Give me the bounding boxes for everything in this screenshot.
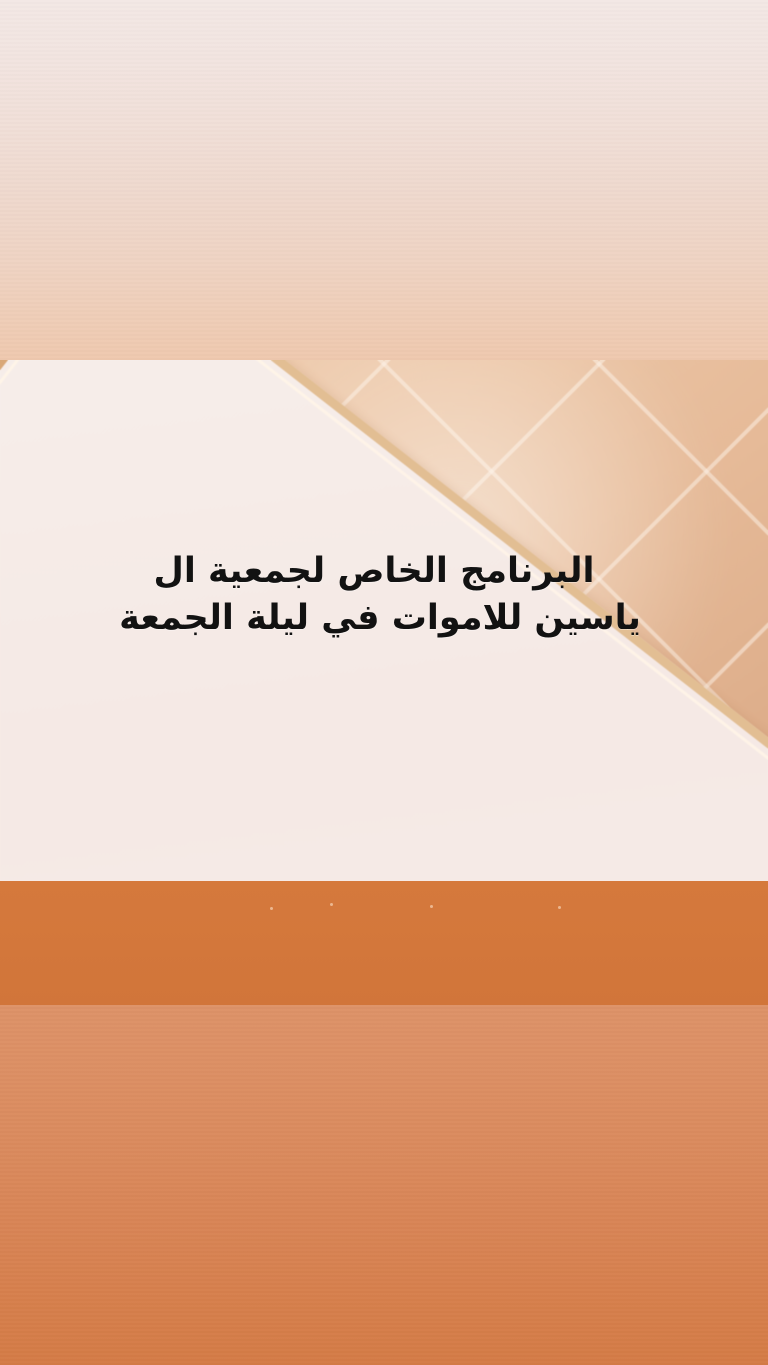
caption-line-1: البرنامج الخاص لجمعية ال [0, 548, 760, 595]
caption-line-2: ياسين للاموات في ليلة الجمعة [0, 595, 760, 642]
solid-orange-divider-band [0, 881, 768, 1005]
story-frame: البرنامج الخاص لجمعية ال ياسين للاموات ف… [0, 0, 768, 1365]
speck [330, 903, 333, 906]
speck [430, 905, 433, 908]
bottom-gradient-band [0, 1005, 768, 1365]
caption-overlay: البرنامج الخاص لجمعية ال ياسين للاموات ف… [0, 548, 768, 641]
speck [270, 907, 273, 910]
top-gradient-band [0, 0, 768, 362]
speck [558, 906, 561, 909]
